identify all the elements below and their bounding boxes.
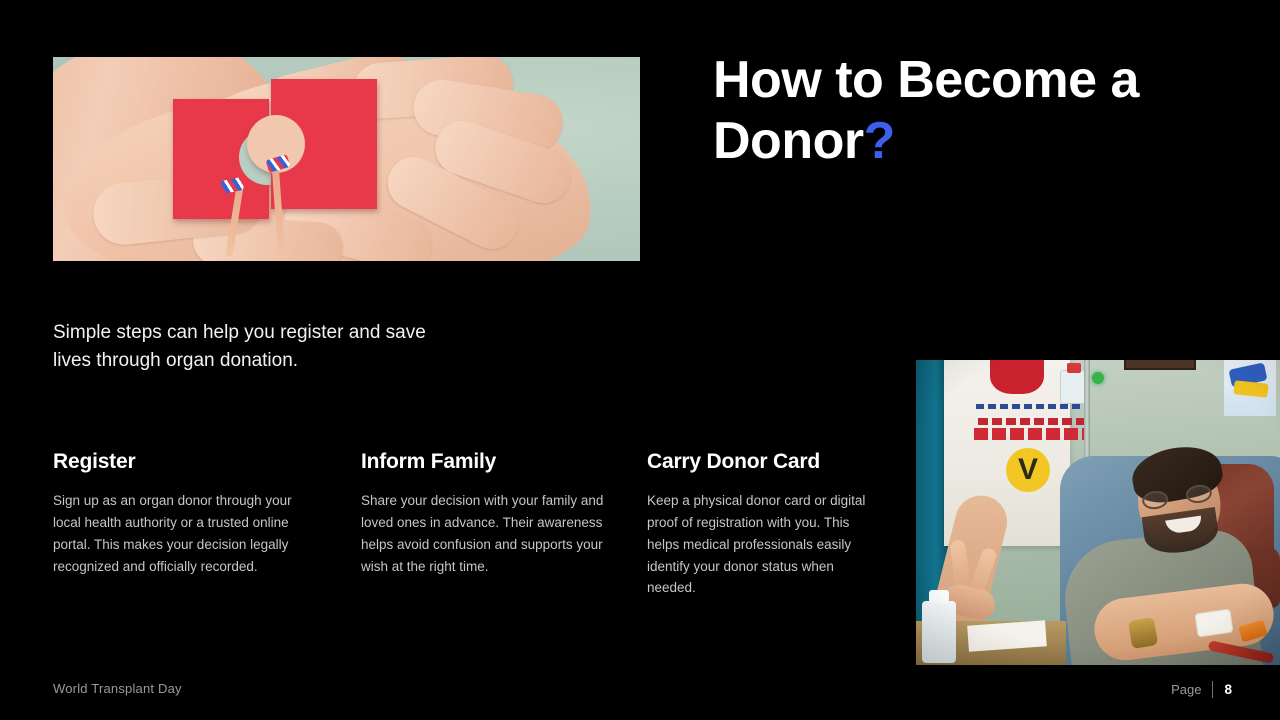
lens-right <box>1185 483 1213 504</box>
status-light-icon <box>1092 372 1104 384</box>
page-title: How to Become a Donor? <box>713 50 1233 172</box>
kidneys-in-hands-image <box>53 57 640 261</box>
bottle-cap <box>929 590 949 603</box>
subtitle-text: Simple steps can help you register and s… <box>53 319 453 374</box>
title-line-1: How to Become a <box>713 51 1139 109</box>
secondary-poster <box>1224 360 1276 416</box>
poster-red-text <box>978 418 1088 425</box>
lens-left <box>1141 489 1169 510</box>
kidney-cutout-right <box>271 79 377 209</box>
dispenser-cap <box>1067 363 1081 373</box>
step-body-inform-family: Share your decision with your family and… <box>361 490 607 577</box>
footer-divider <box>1212 681 1213 698</box>
step-heading-inform-family: Inform Family <box>361 450 607 474</box>
medical-tape <box>1195 609 1234 638</box>
wristwatch <box>1128 617 1158 649</box>
step-heading-register: Register <box>53 450 299 474</box>
footer-pagination: Page 8 <box>1171 681 1232 698</box>
sanitizer-bottle <box>922 601 956 663</box>
step-column-carry-donor-card: Carry Donor Card Keep a physical donor c… <box>647 450 882 599</box>
v-badge-icon: V <box>1006 448 1050 492</box>
framed-picture <box>1124 360 1196 370</box>
title-question-mark: ? <box>864 112 895 170</box>
blood-donor-image: V <box>916 360 1280 665</box>
wall-dispenser <box>1060 370 1086 404</box>
poster-headline-text <box>974 428 1086 440</box>
step-body-register: Sign up as an organ donor through your l… <box>53 490 299 577</box>
footer-brand-label: World Transplant Day <box>53 681 182 696</box>
title-line-2: Donor <box>713 112 864 170</box>
page-number: 8 <box>1224 682 1232 697</box>
step-heading-carry-donor-card: Carry Donor Card <box>647 450 882 474</box>
slide-canvas: How to Become a Donor? Simple steps can … <box>0 0 1280 720</box>
heart-icon <box>990 360 1044 394</box>
paperwork <box>967 620 1047 651</box>
poster-blue-text <box>976 404 1088 409</box>
poster-graphic-yellow <box>1233 380 1268 397</box>
page-label: Page <box>1171 682 1201 697</box>
step-column-inform-family: Inform Family Share your decision with y… <box>361 450 607 577</box>
step-column-register: Register Sign up as an organ donor throu… <box>53 450 299 577</box>
step-body-carry-donor-card: Keep a physical donor card or digital pr… <box>647 490 882 599</box>
